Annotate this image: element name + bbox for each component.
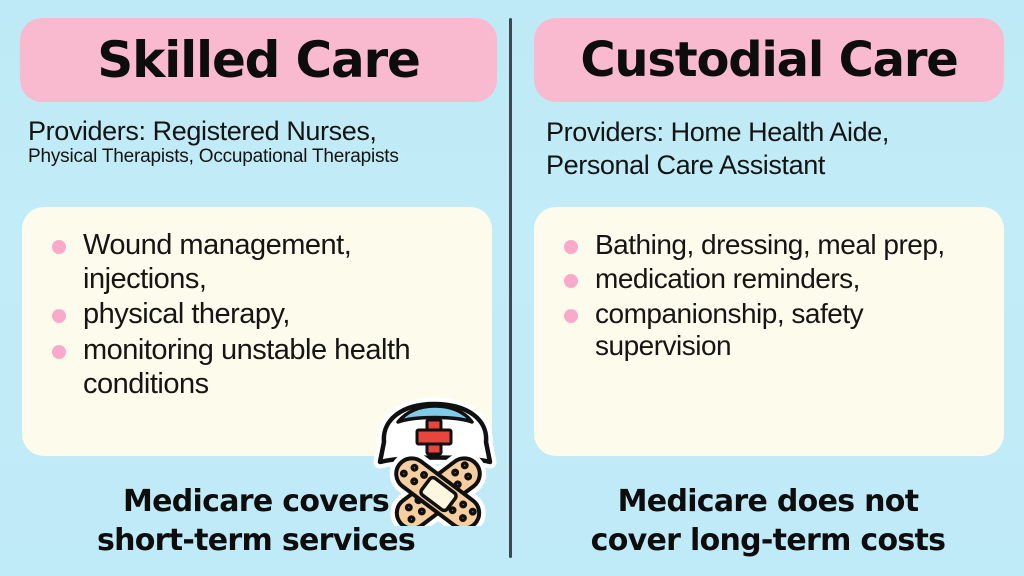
list-item: monitoring unstable health conditions [46, 334, 474, 401]
providers-line-secondary: Personal Care Assistant [546, 149, 1004, 182]
list-item: Wound management, injections, [46, 229, 474, 296]
bullet-dot-icon [52, 345, 66, 359]
footer-note-custodial-care: Medicare does not cover long-term costs [512, 483, 1024, 560]
header-pill-custodial-care: Custodial Care [534, 18, 1004, 102]
providers-line-primary: Providers: Registered Nurses, [28, 116, 497, 146]
column-skilled-care: Skilled Care Providers: Registered Nurse… [0, 0, 512, 576]
providers-block-skilled-care: Providers: Registered Nurses, Physical T… [20, 116, 497, 169]
list-item-label: Bathing, dressing, meal prep, [595, 229, 945, 260]
services-card-custodial-care: Bathing, dressing, meal prep, medication… [534, 207, 1004, 456]
providers-line-secondary: Physical Therapists, Occupational Therap… [28, 146, 497, 169]
services-card-skilled-care: Wound management, injections, physical t… [22, 207, 492, 456]
services-list-skilled-care: Wound management, injections, physical t… [46, 229, 474, 401]
bullet-dot-icon [52, 309, 66, 323]
header-pill-skilled-care: Skilled Care [20, 18, 497, 102]
list-item-label: medication reminders, [595, 263, 860, 294]
footer-line-1: Medicare does not [538, 483, 998, 521]
list-item: medication reminders, [558, 263, 986, 295]
services-list-custodial-care: Bathing, dressing, meal prep, medication… [558, 229, 986, 363]
list-item-label: companionship, safety supervision [595, 298, 863, 361]
list-item: companionship, safety supervision [558, 298, 986, 363]
comparison-infographic: Skilled Care Providers: Registered Nurse… [0, 0, 1024, 576]
bullet-dot-icon [564, 309, 578, 323]
bullet-dot-icon [52, 240, 66, 254]
page-title-custodial-care: Custodial Care [580, 36, 957, 84]
page-title-skilled-care: Skilled Care [97, 35, 419, 85]
footer-line-2: cover long-term costs [538, 522, 998, 560]
list-item: Bathing, dressing, meal prep, [558, 229, 986, 261]
providers-block-custodial-care: Providers: Home Health Aide, Personal Ca… [534, 116, 1004, 182]
footer-note-skilled-care: Medicare covers short-term services [0, 483, 512, 560]
footer-line-1: Medicare covers [26, 483, 486, 521]
bullet-dot-icon [564, 274, 578, 288]
column-custodial-care: Custodial Care Providers: Home Health Ai… [512, 0, 1024, 576]
list-item: physical therapy, [46, 298, 474, 332]
column-divider [509, 18, 512, 558]
bullet-dot-icon [564, 240, 578, 254]
list-item-label: physical therapy, [83, 298, 290, 330]
providers-line-primary: Providers: Home Health Aide, [546, 116, 1004, 149]
footer-line-2: short-term services [26, 522, 486, 560]
list-item-label: monitoring unstable health conditions [83, 334, 410, 400]
list-item-label: Wound management, injections, [83, 229, 351, 295]
